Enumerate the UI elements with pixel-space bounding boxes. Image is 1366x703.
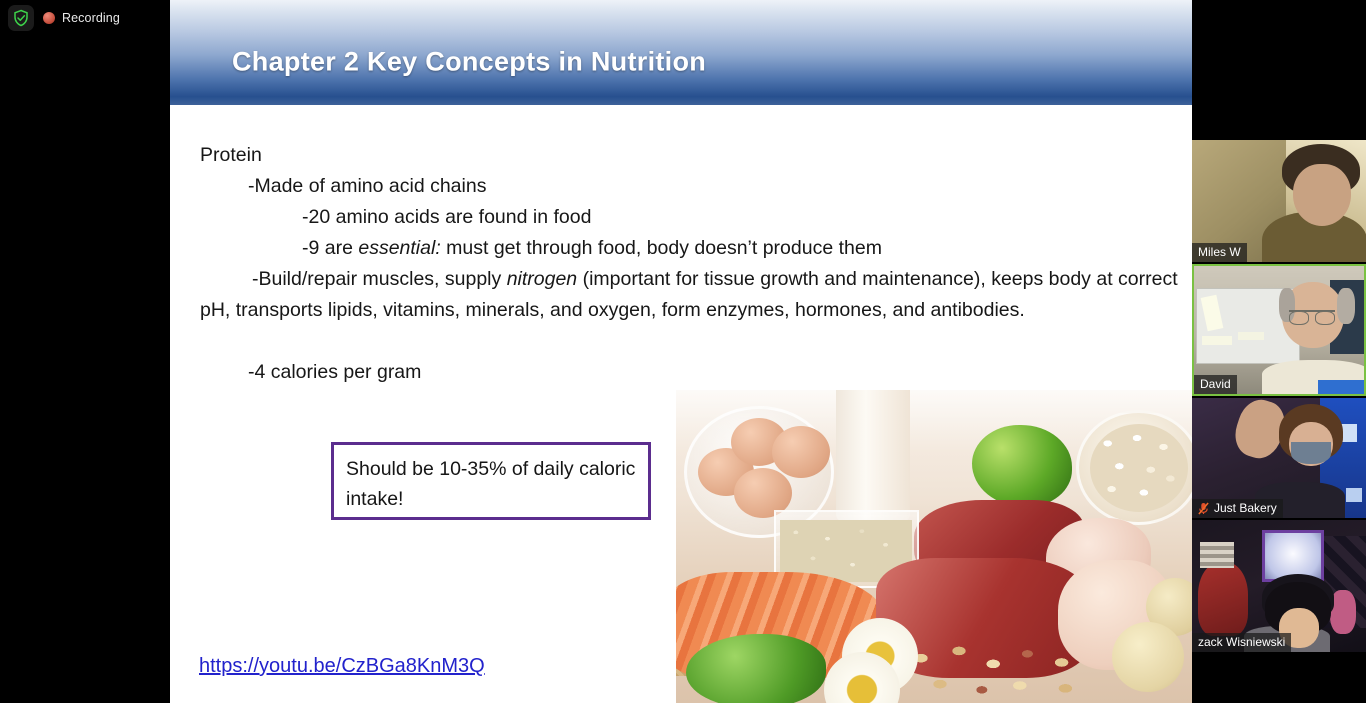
recording-label: Recording <box>62 11 120 25</box>
video-tile-miles-w[interactable]: Miles W <box>1192 140 1366 262</box>
bullet-build-prefix: -Build/repair muscles, supply <box>252 268 507 290</box>
white-beans-shape <box>1090 424 1188 512</box>
participant-name: Just Bakery <box>1214 501 1277 515</box>
bullet-build-emphasis: nitrogen <box>507 268 577 290</box>
bullet-protein: Protein <box>200 140 262 171</box>
potato-shape <box>1112 622 1184 692</box>
participant-video-strip[interactable]: Miles W David <box>1192 0 1366 703</box>
page-title: Chapter 2 Key Concepts in Nutrition <box>232 47 706 78</box>
egg-shape <box>772 426 830 478</box>
slide-body: Protein -Made of amino acid chains -20 a… <box>170 105 1195 703</box>
video-tile-david[interactable]: David <box>1192 264 1366 396</box>
protein-foods-photo <box>676 390 1195 703</box>
bullet-made-of-amino-acid-chains: -Made of amino acid chains <box>248 171 486 202</box>
youtube-link[interactable]: https://youtu.be/CzBGa8KnM3Q <box>199 655 485 678</box>
bullet-4-calories-per-gram: -4 calories per gram <box>248 357 421 388</box>
bullet-9-essential: -9 are essential: must get through food,… <box>302 233 882 264</box>
shared-screen-content[interactable]: Chapter 2 Key Concepts in Nutrition Prot… <box>170 0 1195 703</box>
bullet-20-amino-acids: -20 amino acids are found in food <box>302 202 591 233</box>
participant-name: Miles W <box>1198 245 1241 259</box>
participant-name-tag: Just Bakery <box>1192 499 1283 518</box>
zoom-meeting-window: Recording You are viewing zack Wisniewsk… <box>0 0 1366 703</box>
participant-name: David <box>1200 377 1231 391</box>
video-tile-zack-wisniewski[interactable]: zack Wisniewski <box>1192 520 1366 652</box>
participant-name: zack Wisniewski <box>1198 635 1285 649</box>
milk-glass-shape <box>836 390 910 522</box>
microphone-muted-icon <box>1198 502 1209 515</box>
security-shield-icon[interactable] <box>8 5 34 31</box>
recording-indicator-bar: Recording <box>0 0 170 36</box>
participant-name-tag: Miles W <box>1192 243 1247 262</box>
recording-dot-icon <box>43 12 55 24</box>
bullet-build-repair: -Build/repair muscles, supply nitrogen (… <box>200 264 1185 325</box>
callout-text: Should be 10-35% of daily caloric intake… <box>346 458 635 510</box>
video-tile-just-bakery[interactable]: Just Bakery <box>1192 398 1366 518</box>
bullet-9-prefix: -9 are <box>302 237 358 259</box>
bullet-9-emphasis: essential: <box>358 237 440 259</box>
mixed-nuts-shape <box>902 638 1092 703</box>
participant-name-tag: zack Wisniewski <box>1192 633 1291 652</box>
participant-name-tag: David <box>1194 375 1237 394</box>
bullet-9-suffix: must get through food, body doesn’t prod… <box>441 237 882 259</box>
callout-box: Should be 10-35% of daily caloric intake… <box>331 442 651 520</box>
recording-status[interactable]: Recording <box>43 11 120 25</box>
basil-leaves-shape <box>686 634 826 703</box>
